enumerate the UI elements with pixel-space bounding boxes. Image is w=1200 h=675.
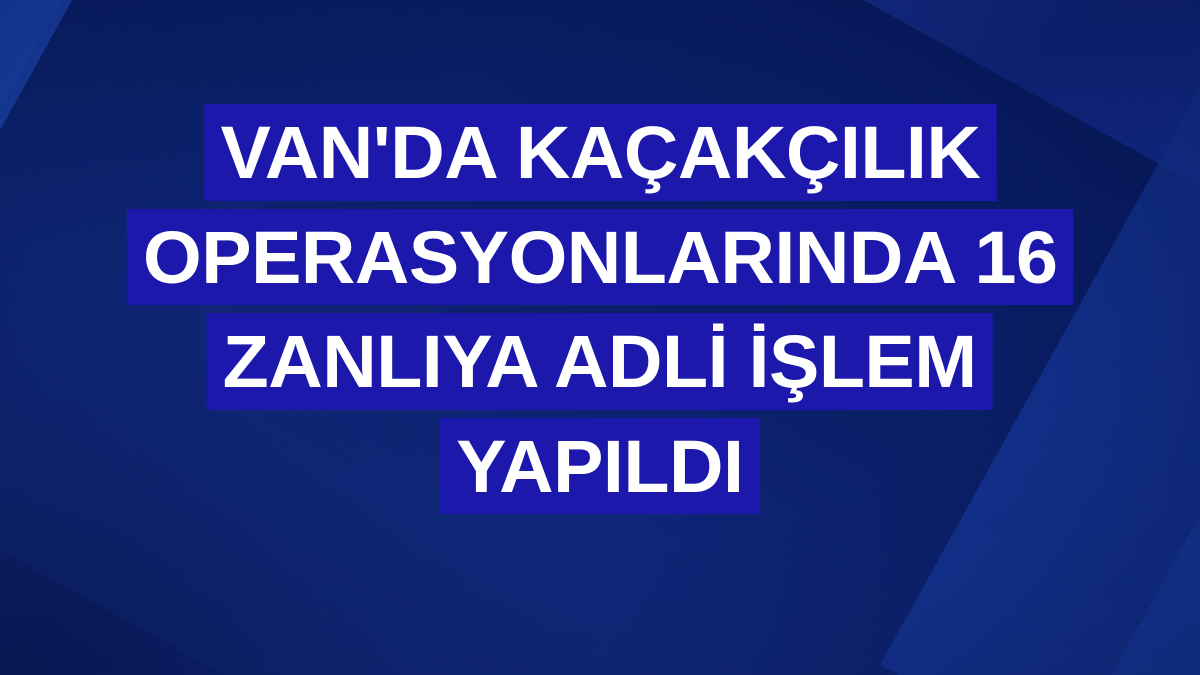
headline-block: VAN'DA KAÇAKÇILIK OPERASYONLARINDA 16 ZA… bbox=[0, 104, 1200, 514]
headline-line-2: OPERASYONLARINDA 16 bbox=[126, 209, 1073, 306]
news-headline-card: VAN'DA KAÇAKÇILIK OPERASYONLARINDA 16 ZA… bbox=[0, 0, 1200, 675]
headline-line-1: VAN'DA KAÇAKÇILIK bbox=[204, 104, 996, 201]
headline-line-4: YAPILDI bbox=[440, 418, 760, 515]
headline-line-3: ZANLIYA ADLİ İŞLEM bbox=[207, 313, 994, 410]
